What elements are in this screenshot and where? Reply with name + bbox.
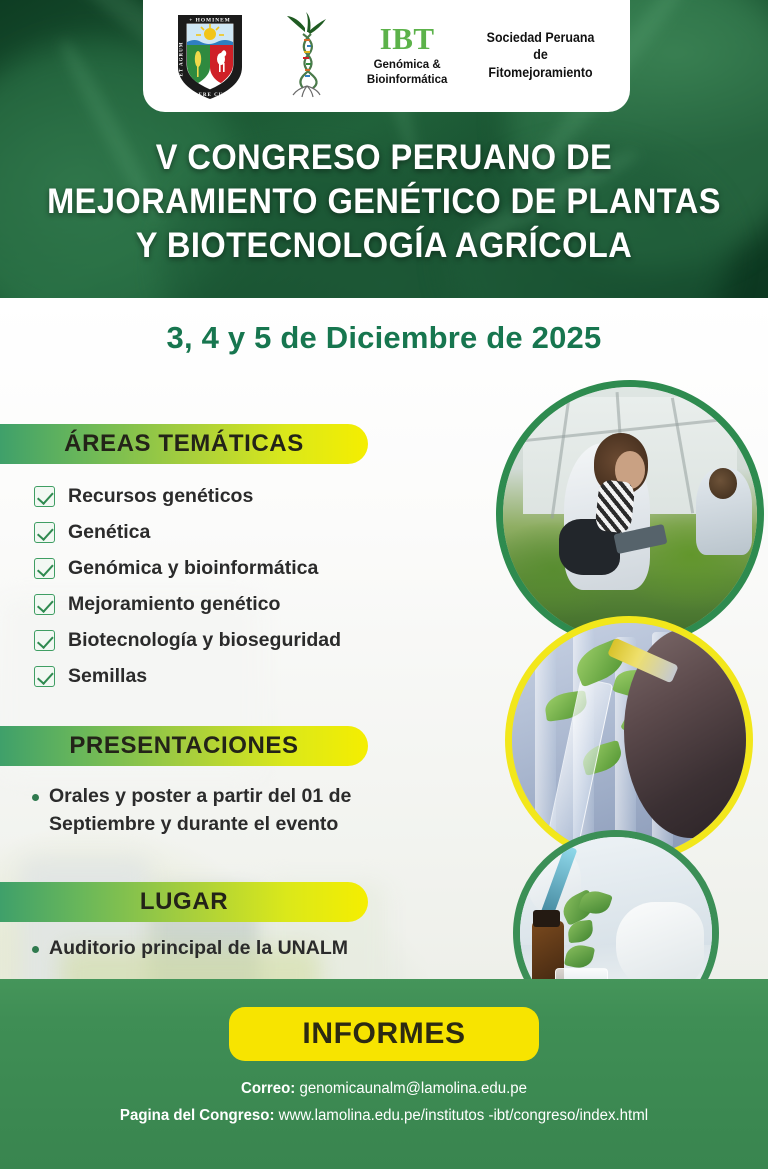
page-title: V CONGRESO PERUANO DE MEJORAMIENTO GENÉT…: [0, 136, 768, 268]
congress-poster: + HOMINEM COLERE CUPIO ET AGRUM: [0, 0, 768, 1169]
ibt-subtitle-line1: Genómica &: [367, 58, 448, 72]
list-item-label: Semillas: [68, 665, 147, 688]
informes-label: INFORMES: [302, 1017, 465, 1051]
photo-content: [512, 623, 746, 857]
banner-label-presentaciones: PRESENTACIONES: [69, 732, 298, 760]
list-item: Mejoramiento genético: [34, 586, 341, 622]
bullet-icon: [32, 946, 39, 953]
title-line-2: MEJORAMIENTO GENÉTICO DE PLANTAS: [40, 180, 728, 224]
areas-tematicas-list: Recursos genéticos Genética Genómica y b…: [34, 478, 341, 694]
svg-text:COLERE CUPIO: COLERE CUPIO: [185, 93, 235, 98]
logo-panel: + HOMINEM COLERE CUPIO ET AGRUM: [143, 0, 630, 112]
contact-email-row: Correo: genomicaunalm@lamolina.edu.pe: [12, 1075, 757, 1102]
list-item-label: Genética: [68, 521, 150, 544]
list-item: Semillas: [34, 658, 341, 694]
list-item: Recursos genéticos: [34, 478, 341, 514]
bottle-cap: [533, 910, 560, 927]
svg-text:+ HOMINEM: + HOMINEM: [189, 18, 231, 24]
correo-label: Correo:: [241, 1080, 295, 1097]
section-banner-areas-tematicas: ÁREAS TEMÁTICAS: [0, 424, 368, 464]
shield-icon: + HOMINEM COLERE CUPIO ET AGRUM: [174, 9, 246, 101]
title-line-3: Y BIOTECNOLOGÍA AGRÍCOLA: [40, 224, 728, 268]
correo-value[interactable]: genomicaunalm@lamolina.edu.pe: [299, 1080, 527, 1097]
section-banner-lugar: LUGAR: [0, 882, 368, 922]
check-icon: [34, 486, 55, 507]
check-icon: [34, 630, 55, 651]
dna-plant-icon: [281, 10, 333, 100]
pagina-value[interactable]: www.lamolina.edu.pe/institutos -ibt/cong…: [279, 1107, 648, 1124]
section-banner-presentaciones: PRESENTACIONES: [0, 726, 368, 766]
unalm-shield-logo: + HOMINEM COLERE CUPIO ET AGRUM: [174, 9, 246, 101]
check-icon: [34, 558, 55, 579]
list-item: Genómica y bioinformática: [34, 550, 341, 586]
list-item-label: Mejoramiento genético: [68, 593, 280, 616]
check-icon: [34, 666, 55, 687]
list-item: Genética: [34, 514, 341, 550]
ibt-wordmark: IBT: [367, 23, 448, 54]
lugar-text: Auditorio principal de la UNALM: [49, 935, 348, 963]
lugar-bullet: Auditorio principal de la UNALM: [32, 935, 432, 963]
bullet-icon: [32, 794, 39, 801]
researcher-scarf: [594, 479, 635, 533]
check-icon: [34, 522, 55, 543]
presentaciones-text: Orales y poster a partir del 01 de Septi…: [49, 783, 392, 838]
photo-content: [503, 387, 757, 641]
check-icon: [34, 594, 55, 615]
informes-badge: INFORMES: [229, 1007, 539, 1061]
gloved-hand-right: [616, 902, 704, 990]
list-item-label: Biotecnología y bioseguridad: [68, 629, 341, 652]
sociedad-peruana-logo: Sociedad Peruana de Fitomejoramiento: [482, 29, 599, 82]
list-item-label: Recursos genéticos: [68, 485, 253, 508]
event-date: 3, 4 y 5 de Diciembre de 2025: [0, 320, 768, 356]
sociedad-line2: de: [486, 46, 594, 64]
list-item-label: Genómica y bioinformática: [68, 557, 318, 580]
banner-label-lugar: LUGAR: [140, 888, 228, 916]
plantlet-leaf: [564, 942, 595, 970]
dna-plant-logo: [281, 10, 333, 100]
ibt-subtitle-line2: Bioinformática: [367, 73, 448, 87]
pipette-plant-lab-photo: [505, 616, 753, 864]
contact-info: Correo: genomicaunalm@lamolina.edu.pe Pa…: [12, 1075, 757, 1129]
sociedad-line1: Sociedad Peruana: [486, 29, 594, 47]
list-item: Biotecnología y bioseguridad: [34, 622, 341, 658]
presentaciones-bullet: Orales y poster a partir del 01 de Septi…: [32, 783, 392, 838]
sociedad-line3: Fitomejoramiento: [486, 64, 594, 82]
banner-label-areas: ÁREAS TEMÁTICAS: [64, 430, 304, 458]
contact-website-row: Pagina del Congreso: www.lamolina.edu.pe…: [12, 1102, 757, 1129]
pagina-label: Pagina del Congreso:: [120, 1107, 275, 1124]
ibt-logo: IBT Genómica & Bioinformática: [367, 23, 448, 86]
second-researcher-head: [709, 468, 737, 498]
greenhouse-researchers-photo: [496, 380, 764, 648]
svg-text:ET AGRUM: ET AGRUM: [180, 42, 185, 77]
footer: INFORMES Correo: genomicaunalm@lamolina.…: [0, 979, 768, 1169]
title-line-1: V CONGRESO PERUANO DE: [40, 136, 728, 180]
